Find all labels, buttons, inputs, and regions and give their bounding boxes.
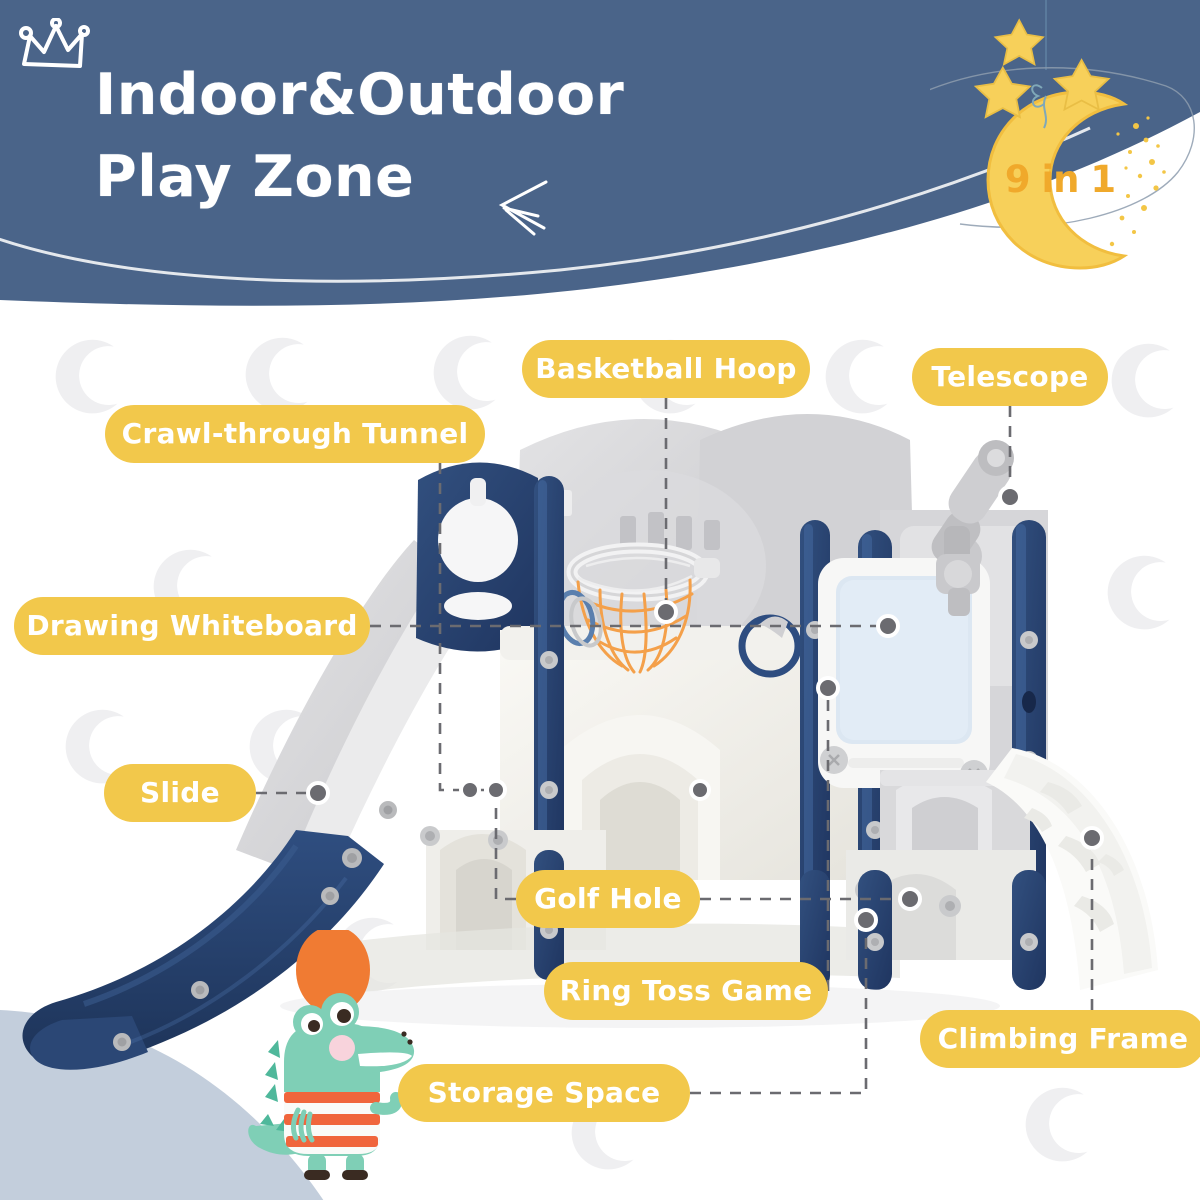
- nine-in-one-label: 9 in 1: [985, 158, 1135, 201]
- label-climbing-frame[interactable]: Climbing Frame: [920, 1010, 1200, 1068]
- label-drawing-whiteboard[interactable]: Drawing Whiteboard: [14, 597, 370, 655]
- label-text: Climbing Frame: [938, 1025, 1189, 1053]
- label-text: Basketball Hoop: [535, 355, 796, 383]
- label-text: Slide: [140, 779, 220, 807]
- nine-in-one-badge: [930, 0, 1200, 290]
- label-text: Storage Space: [428, 1079, 661, 1107]
- label-ring-toss-game[interactable]: Ring Toss Game: [544, 962, 828, 1020]
- label-text: Ring Toss Game: [560, 977, 813, 1005]
- label-text: Telescope: [931, 363, 1088, 391]
- label-text: Crawl-through Tunnel: [122, 420, 469, 448]
- label-crawl-through-tunnel[interactable]: Crawl-through Tunnel: [105, 405, 485, 463]
- label-golf-hole[interactable]: Golf Hole: [516, 870, 700, 928]
- label-telescope[interactable]: Telescope: [912, 348, 1108, 406]
- label-basketball-hoop[interactable]: Basketball Hoop: [522, 340, 810, 398]
- crawl-tunnel-part: [416, 462, 542, 651]
- sparkle-lines-icon: [498, 178, 556, 242]
- label-text: Golf Hole: [534, 885, 682, 913]
- crown-icon: [16, 18, 92, 82]
- infographic-canvas: Indoor&Outdoor Play Zone: [0, 0, 1200, 1200]
- label-text: Drawing Whiteboard: [26, 612, 357, 640]
- golf-hole-part: [600, 782, 680, 880]
- label-slide[interactable]: Slide: [104, 764, 256, 822]
- label-storage-space[interactable]: Storage Space: [398, 1064, 690, 1122]
- crocodile-mascot: [238, 930, 438, 1180]
- title-line-1: Indoor&Outdoor: [95, 62, 624, 128]
